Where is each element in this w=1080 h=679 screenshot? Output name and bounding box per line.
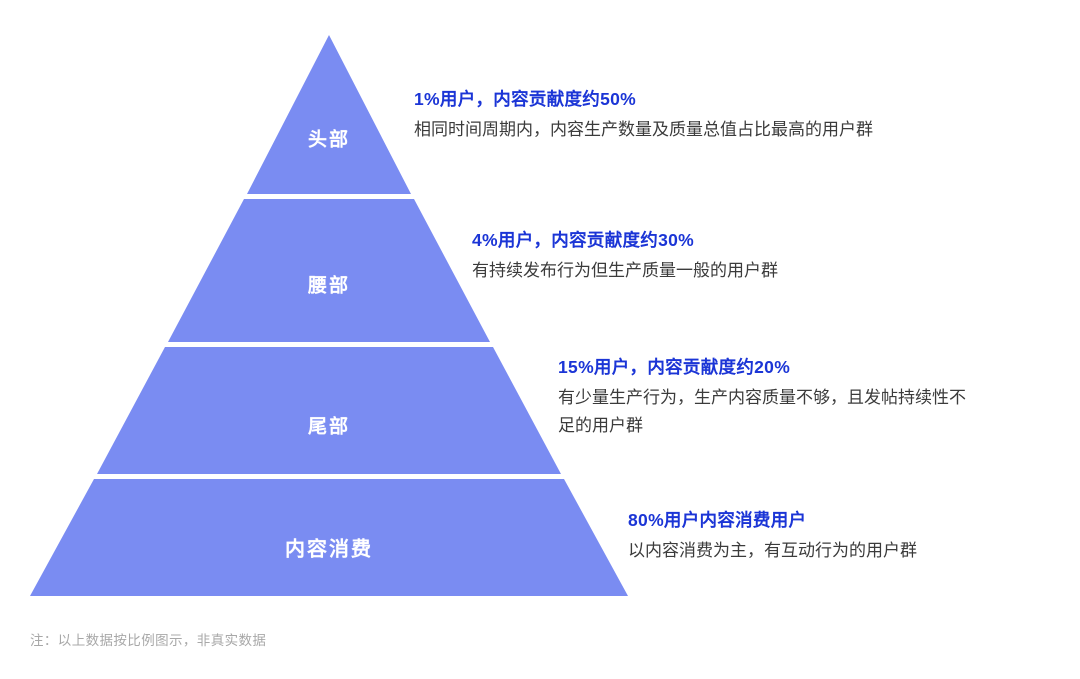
pyramid-tier-label-head: 头部: [308, 125, 350, 152]
annotation-consumption-description: 以内容消费为主，有互动行为的用户群: [628, 537, 1028, 565]
annotation-tail-description: 有少量生产行为，生产内容质量不够，且发帖持续性不足的用户群: [558, 384, 978, 440]
pyramid-tier-label-consumption: 内容消费: [285, 533, 373, 562]
annotation-waist: 4%用户，内容贡献度约30% 有持续发布行为但生产质量一般的用户群: [472, 227, 1032, 285]
annotation-waist-title: 4%用户，内容贡献度约30%: [472, 227, 1032, 253]
infographic-canvas: 头部 腰部 尾部 内容消费 1%用户，内容贡献度约50% 相同时间周期内，内容生…: [0, 0, 1080, 679]
footnote: 注：以上数据按比例图示，非真实数据: [30, 632, 266, 650]
annotation-consumption-title: 80%用户内容消费用户: [628, 507, 1028, 533]
annotation-head-description: 相同时间周期内，内容生产数量及质量总值占比最高的用户群: [414, 116, 1034, 144]
annotation-head: 1%用户，内容贡献度约50% 相同时间周期内，内容生产数量及质量总值占比最高的用…: [414, 86, 1034, 144]
annotation-consumption: 80%用户内容消费用户 以内容消费为主，有互动行为的用户群: [628, 507, 1028, 565]
annotation-head-title: 1%用户，内容贡献度约50%: [414, 86, 1034, 112]
annotation-waist-description: 有持续发布行为但生产质量一般的用户群: [472, 257, 1032, 285]
annotation-tail: 15%用户，内容贡献度约20% 有少量生产行为，生产内容质量不够，且发帖持续性不…: [558, 354, 978, 440]
pyramid-tier-head[interactable]: [247, 35, 411, 194]
pyramid-tier-label-tail: 尾部: [308, 412, 350, 439]
annotation-tail-title: 15%用户，内容贡献度约20%: [558, 354, 978, 380]
pyramid-tier-label-waist: 腰部: [308, 271, 350, 298]
pyramid-tier-tail[interactable]: [97, 347, 561, 474]
